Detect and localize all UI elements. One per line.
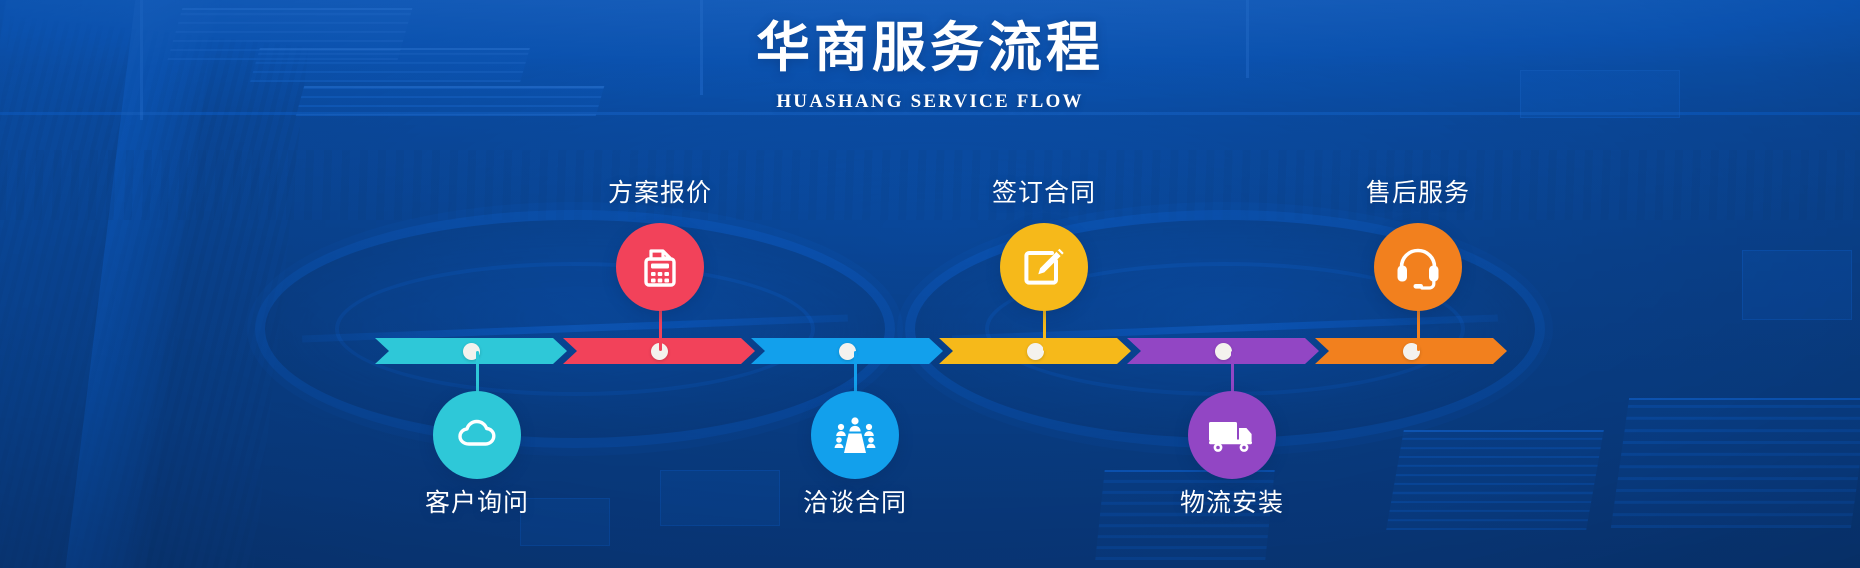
- meeting-table-icon[interactable]: [811, 391, 899, 479]
- flow-node-stem: [476, 351, 479, 393]
- pencil-edit-icon[interactable]: [1000, 223, 1088, 311]
- flow-node-stem: [1231, 351, 1234, 393]
- flow-node-label-4: 签订合同: [894, 173, 1194, 209]
- flow-segment-dot: [839, 343, 856, 360]
- flow-segment-6[interactable]: [1315, 338, 1507, 364]
- page-title-en: HUASHANG SERVICE FLOW: [0, 91, 1860, 113]
- flow-node-label-1: 客户询问: [327, 483, 627, 519]
- flow-segment-3[interactable]: [751, 338, 943, 364]
- flow-node-stem: [1043, 309, 1046, 351]
- flow-arrow-bar: [375, 338, 1503, 364]
- banner-heading: 华商服务流程 HUASHANG SERVICE FLOW: [0, 18, 1860, 113]
- page-title-cn: 华商服务流程: [0, 18, 1860, 77]
- flow-segment-dot: [1027, 343, 1044, 360]
- flow-node-stem: [659, 309, 662, 351]
- flow-segment-1[interactable]: [375, 338, 567, 364]
- calculator-quote-icon[interactable]: [616, 223, 704, 311]
- headset-support-icon[interactable]: [1374, 223, 1462, 311]
- flow-segment-4[interactable]: [939, 338, 1131, 364]
- flow-node-stem: [1417, 309, 1420, 351]
- flow-node-label-6: 售后服务: [1268, 173, 1568, 209]
- flow-node-label-3: 洽谈合同: [705, 483, 1005, 519]
- service-flow-banner: 华商服务流程 HUASHANG SERVICE FLOW 客户询问 方案报价: [0, 0, 1860, 568]
- flow-node-stem: [854, 351, 857, 393]
- flow-node-label-2: 方案报价: [510, 173, 810, 209]
- delivery-truck-icon[interactable]: [1188, 391, 1276, 479]
- flow-node-label-5: 物流安装: [1082, 483, 1382, 519]
- flow-segment-5[interactable]: [1127, 338, 1319, 364]
- flow-segment-dot: [1215, 343, 1232, 360]
- cloud-chat-icon[interactable]: [433, 391, 521, 479]
